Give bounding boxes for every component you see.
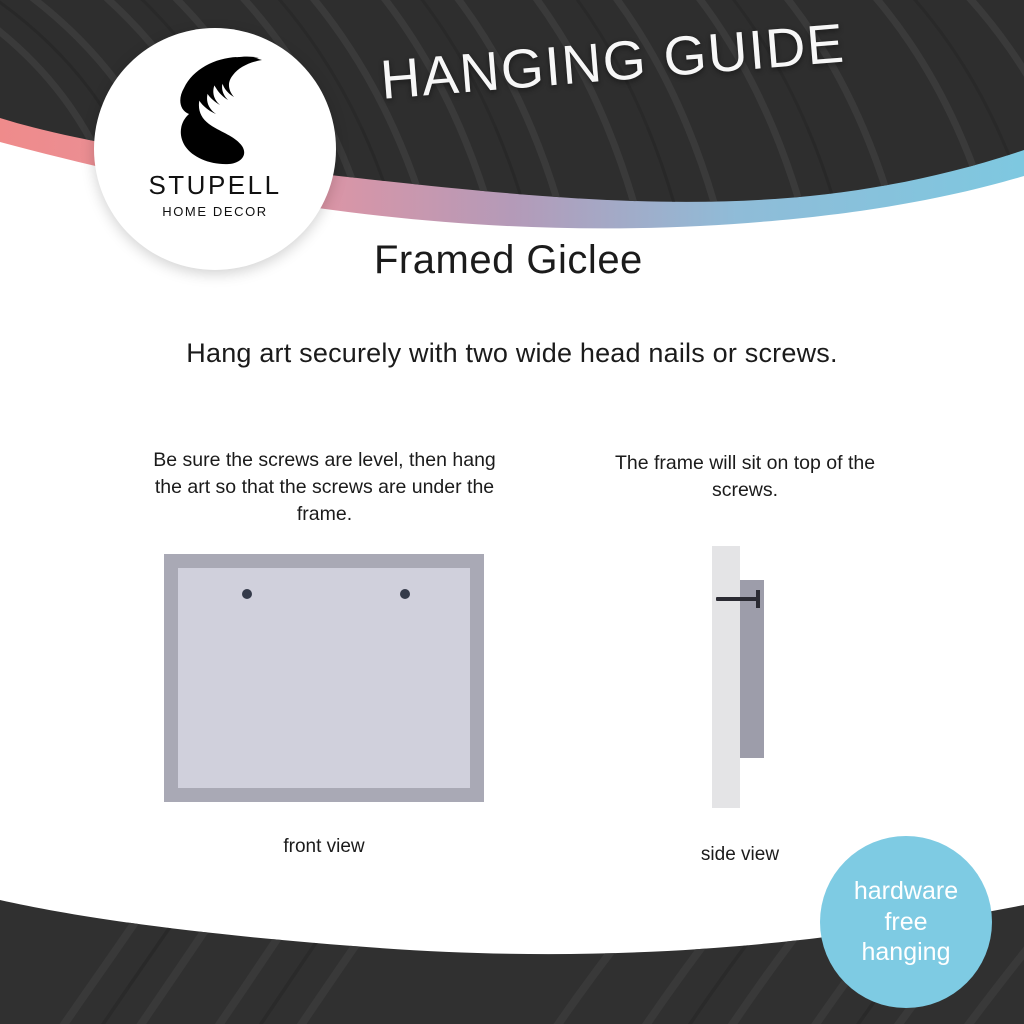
product-type-title: Framed Giclee bbox=[374, 238, 643, 283]
front-view-caption: Be sure the screws are level, then hang … bbox=[152, 447, 497, 528]
brand-logo-badge: STUPELL HOME DECOR bbox=[94, 28, 336, 270]
page-title: HANGING GUIDE bbox=[378, 8, 882, 112]
badge-line-1: hardware bbox=[854, 876, 958, 907]
side-view-wall bbox=[712, 546, 740, 808]
side-view-label: side view bbox=[650, 844, 830, 866]
side-view-frame-diagram bbox=[700, 546, 780, 808]
brand-tagline: HOME DECOR bbox=[162, 205, 268, 218]
nail-shaft-icon bbox=[716, 597, 760, 601]
brand-name: STUPELL bbox=[148, 172, 281, 198]
side-view-caption: The frame will sit on top of the screws. bbox=[600, 450, 890, 504]
badge-line-2: free bbox=[884, 907, 927, 938]
side-view-frame bbox=[740, 580, 764, 758]
hanging-guide-infographic: STUPELL HOME DECOR HANGING GUIDE Framed … bbox=[0, 0, 1024, 1024]
badge-line-3: hanging bbox=[862, 937, 951, 968]
front-view-mat-area bbox=[178, 568, 470, 788]
front-view-frame-diagram bbox=[164, 554, 484, 802]
front-view-label: front view bbox=[184, 836, 464, 858]
main-instruction-text: Hang art securely with two wide head nai… bbox=[0, 338, 1024, 369]
stupell-s-swoosh-logo-icon bbox=[163, 54, 267, 166]
screw-dot-left-icon bbox=[242, 589, 252, 599]
nail-head-icon bbox=[756, 590, 760, 608]
screw-dot-right-icon bbox=[400, 589, 410, 599]
hardware-free-hanging-badge: hardware free hanging bbox=[820, 836, 992, 1008]
